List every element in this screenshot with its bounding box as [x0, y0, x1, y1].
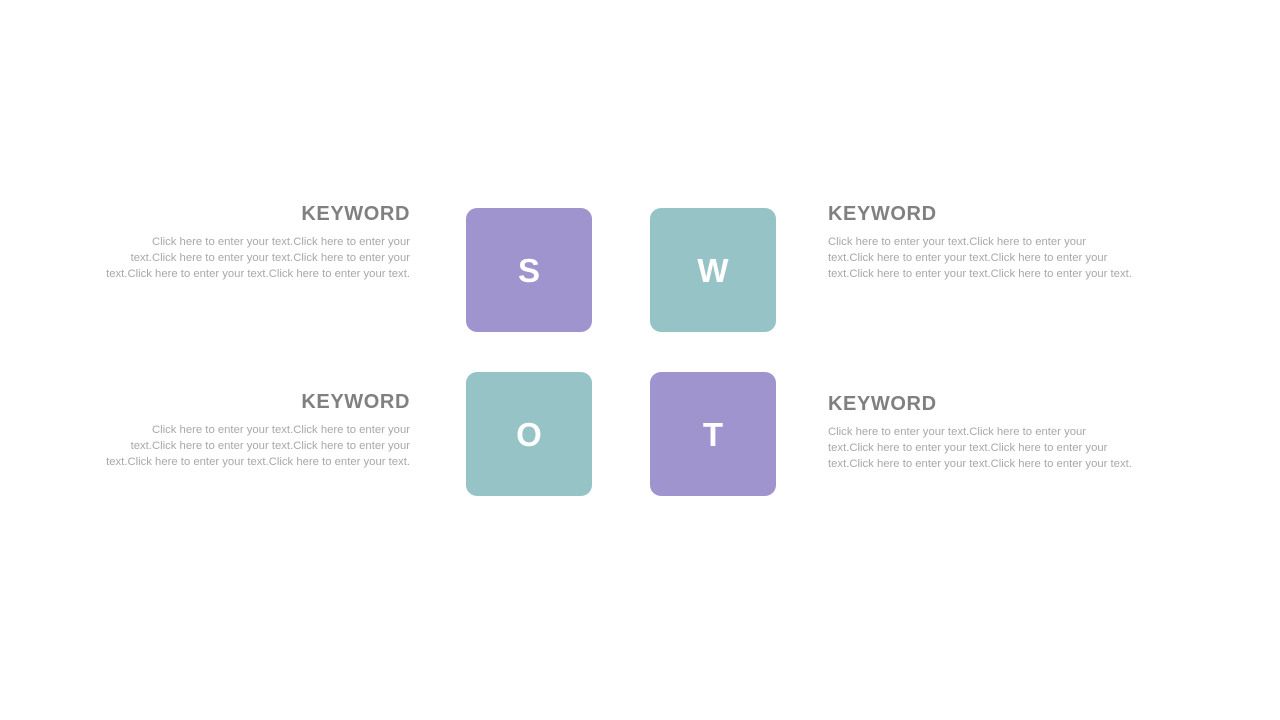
quadrant-text-threats: KEYWORD Click here to enter your text.Cl…	[828, 393, 1132, 472]
body-text-opportunities: Click here to enter your text.Click here…	[106, 422, 410, 470]
keyword-heading-opportunities: KEYWORD	[106, 391, 410, 413]
keyword-heading-strengths: KEYWORD	[106, 203, 410, 225]
swot-tile-weaknesses[interactable]: W	[650, 208, 776, 332]
keyword-heading-weaknesses: KEYWORD	[828, 203, 1132, 225]
tile-letter-opportunities: O	[516, 418, 542, 451]
swot-slide: KEYWORD Click here to enter your text.Cl…	[0, 0, 1280, 720]
quadrant-text-strengths: KEYWORD Click here to enter your text.Cl…	[106, 203, 410, 282]
quadrant-text-weaknesses: KEYWORD Click here to enter your text.Cl…	[828, 203, 1132, 282]
quadrant-text-opportunities: KEYWORD Click here to enter your text.Cl…	[106, 391, 410, 470]
swot-tile-strengths[interactable]: S	[466, 208, 592, 332]
keyword-heading-threats: KEYWORD	[828, 393, 1132, 415]
tile-letter-threats: T	[703, 418, 723, 451]
tile-letter-weaknesses: W	[697, 254, 728, 287]
body-text-strengths: Click here to enter your text.Click here…	[106, 234, 410, 282]
tile-letter-strengths: S	[518, 254, 540, 287]
swot-tile-threats[interactable]: T	[650, 372, 776, 496]
body-text-threats: Click here to enter your text.Click here…	[828, 424, 1132, 472]
swot-tile-opportunities[interactable]: O	[466, 372, 592, 496]
body-text-weaknesses: Click here to enter your text.Click here…	[828, 234, 1132, 282]
